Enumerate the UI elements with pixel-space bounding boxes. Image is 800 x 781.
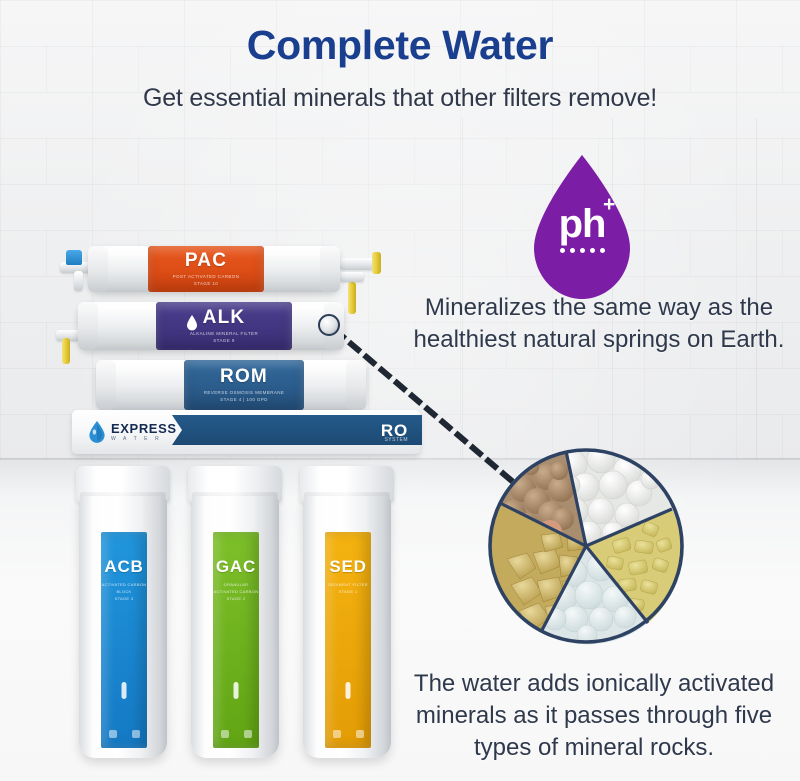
- brand-word: W A T E R: [111, 435, 177, 443]
- outlet-fitting: [340, 258, 374, 270]
- yellow-tube: [62, 338, 70, 364]
- blue-valve-cap: [66, 250, 82, 265]
- ro-manifold-banner: RO SYSTEM: [172, 415, 422, 445]
- housing-sump: GAC GRANULAR ACTIVATED CARBONSTAGE 2: [191, 496, 279, 758]
- housing-sump: SED SEDIMENT FILTERSTAGE 1: [303, 496, 391, 758]
- ph-label: ph: [522, 204, 642, 244]
- wall-seam-line: [462, 118, 463, 463]
- ph-dot-row: [522, 248, 642, 253]
- housing-sed-label: SED SEDIMENT FILTERSTAGE 1: [325, 532, 371, 748]
- yellow-tube: [372, 252, 381, 274]
- label-icon-row: [213, 730, 259, 738]
- ph-superscript: +: [603, 194, 615, 215]
- housing-gac-code: GAC: [216, 558, 256, 575]
- cartridge-pac-sub: POST ACTIVATED CARBONSTAGE 10: [173, 274, 240, 288]
- cartridge-alk-label: ALK ALKALINE MINERAL FILTERSTAGE 9: [156, 302, 292, 350]
- cartridge-rom-code: ROM: [220, 367, 268, 386]
- housing-gac: GAC GRANULAR ACTIVATED CARBONSTAGE 2: [188, 466, 282, 766]
- ph-badge: ph +: [522, 152, 642, 304]
- cartridge-alk-code: ALK: [203, 308, 246, 327]
- infographic-canvas: Complete Water Get essential minerals th…: [0, 0, 800, 781]
- label-pill-mark: [122, 682, 127, 699]
- housing-sed-code: SED: [329, 558, 366, 575]
- inlet-stem: [74, 271, 83, 291]
- yellow-tube: [348, 282, 356, 314]
- cartridge-pac-label: PAC POST ACTIVATED CARBONSTAGE 10: [148, 246, 264, 292]
- housing-acb: ACB ACTIVATED CARBON BLOCKSTAGE 3: [76, 466, 170, 766]
- housing-acb-label: ACB ACTIVATED CARBON BLOCKSTAGE 3: [101, 532, 147, 748]
- wall-seam-line: [756, 118, 757, 463]
- reverse-osmosis-filter-system: PAC POST ACTIVATED CARBONSTAGE 10 ALK AL…: [0, 0, 460, 781]
- housing-gac-sub: GRANULAR ACTIVATED CARBONSTAGE 2: [213, 582, 259, 602]
- housing-sed-sub: SEDIMENT FILTERSTAGE 1: [328, 582, 368, 596]
- outlet-fitting: [340, 272, 364, 282]
- housing-gac-label: GAC GRANULAR ACTIVATED CARBONSTAGE 2: [213, 532, 259, 748]
- cartridge-end-cap: [346, 360, 366, 410]
- housing-acb-sub: ACTIVATED CARBON BLOCKSTAGE 3: [101, 582, 147, 602]
- label-icon-row: [325, 730, 371, 738]
- cartridge-alk: ALK ALKALINE MINERAL FILTERSTAGE 9: [78, 302, 344, 350]
- droplet-icon: [186, 315, 198, 331]
- cartridge-end-cap: [96, 360, 116, 410]
- housing-sed: SED SEDIMENT FILTERSTAGE 1: [300, 466, 394, 766]
- housing-acb-code: ACB: [104, 558, 143, 575]
- cartridge-end-cap: [88, 246, 108, 292]
- cartridge-pac: PAC POST ACTIVATED CARBONSTAGE 10: [88, 246, 340, 292]
- label-pill-mark: [346, 682, 351, 699]
- alk-pressure-knob[interactable]: [318, 314, 340, 336]
- ro-sub: SYSTEM: [384, 437, 408, 443]
- cartridge-pac-code: PAC: [185, 251, 227, 270]
- cartridge-end-cap: [78, 302, 98, 350]
- callout-top-right: Mineralizes the same way as the healthie…: [404, 292, 794, 356]
- water-droplet-logo-icon: [88, 420, 106, 444]
- cartridge-rom-sub: REVERSE OSMOSIS MEMBRANESTAGE 4 | 100 GP…: [204, 390, 285, 404]
- cartridge-end-cap: [320, 246, 340, 292]
- mineral-rocks-wheel: [467, 427, 705, 665]
- cartridge-rom-label: ROM REVERSE OSMOSIS MEMBRANESTAGE 4 | 10…: [184, 360, 304, 410]
- ro-manifold: EXPRESS W A T E R RO SYSTEM: [72, 410, 420, 454]
- ro-code: RO: [381, 422, 422, 439]
- brand-logo: EXPRESS W A T E R: [88, 420, 177, 444]
- cartridge-rom: ROM REVERSE OSMOSIS MEMBRANESTAGE 4 | 10…: [96, 360, 366, 410]
- cartridge-alk-sub: ALKALINE MINERAL FILTERSTAGE 9: [190, 331, 258, 345]
- label-icon-row: [101, 730, 147, 738]
- brand-name: EXPRESS: [111, 422, 177, 435]
- label-pill-mark: [234, 682, 239, 699]
- housing-sump: ACB ACTIVATED CARBON BLOCKSTAGE 3: [79, 496, 167, 758]
